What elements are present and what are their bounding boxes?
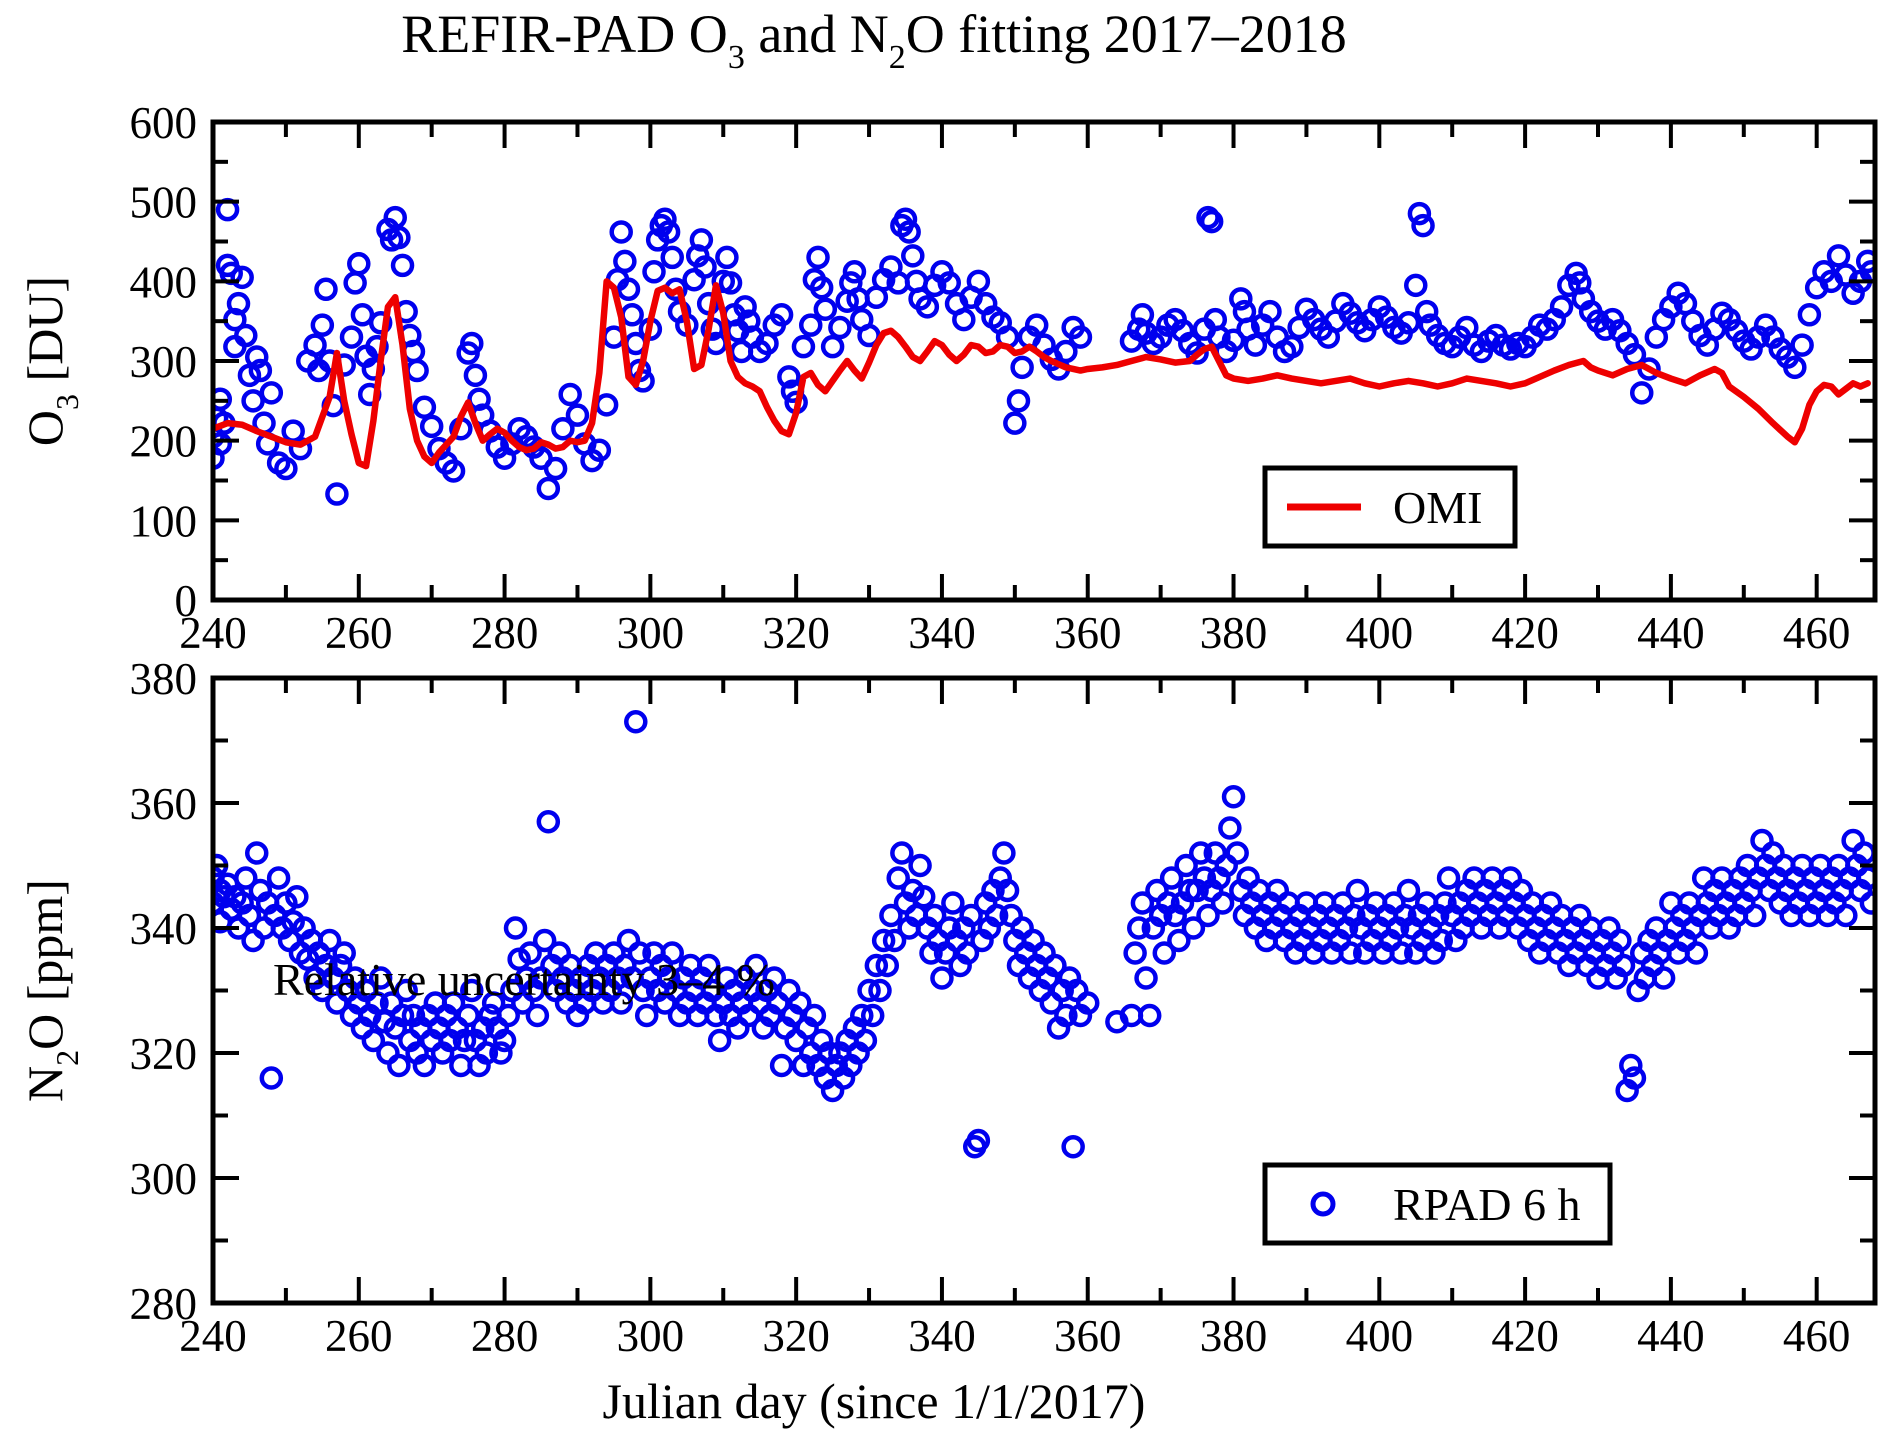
x-tick-label: 460 bbox=[1783, 608, 1851, 658]
x-tick-label: 260 bbox=[325, 608, 393, 658]
y-tick-label: 360 bbox=[130, 779, 198, 829]
y-tick-label: 300 bbox=[130, 1154, 198, 1204]
x-axis-label: Julian day (since 1/1/2017) bbox=[603, 1373, 1146, 1429]
x-tick-label: 340 bbox=[908, 1311, 976, 1361]
y-tick-label: 380 bbox=[130, 654, 198, 704]
y-tick-label: 100 bbox=[130, 496, 198, 546]
y-tick-label: 320 bbox=[130, 1029, 198, 1079]
x-tick-label: 360 bbox=[1054, 1311, 1122, 1361]
figure-background bbox=[0, 0, 1899, 1444]
y-zero-label: 0 bbox=[175, 576, 198, 626]
legend: RPAD 6 h bbox=[1265, 1165, 1610, 1243]
x-tick-label: 400 bbox=[1346, 1311, 1414, 1361]
x-tick-label: 320 bbox=[762, 608, 830, 658]
x-tick-label: 460 bbox=[1783, 1311, 1851, 1361]
x-tick-label: 380 bbox=[1200, 608, 1268, 658]
figure-canvas: REFIR-PAD O3 and N2O fitting 2017–2018 2… bbox=[0, 0, 1899, 1444]
x-tick-label: 360 bbox=[1054, 608, 1122, 658]
y-tick-label: 600 bbox=[130, 98, 198, 148]
y-tick-label: 300 bbox=[130, 337, 198, 387]
x-tick-label: 300 bbox=[617, 608, 685, 658]
x-tick-label: 440 bbox=[1637, 608, 1705, 658]
y-tick-label: 500 bbox=[130, 178, 198, 228]
uncertainty-annotation: Relative uncertainty 3–4 % bbox=[273, 954, 775, 1005]
x-tick-label: 260 bbox=[325, 1311, 393, 1361]
x-tick-label: 380 bbox=[1200, 1311, 1268, 1361]
y-tick-label: 200 bbox=[130, 417, 198, 467]
x-tick-label: 280 bbox=[471, 608, 539, 658]
legend-label: RPAD 6 h bbox=[1393, 1179, 1580, 1230]
legend: OMI bbox=[1265, 468, 1515, 546]
x-tick-label: 440 bbox=[1637, 1311, 1705, 1361]
chart-figure: REFIR-PAD O3 and N2O fitting 2017–2018 2… bbox=[0, 0, 1899, 1444]
y-tick-label: 400 bbox=[130, 257, 198, 307]
legend-label: OMI bbox=[1393, 482, 1482, 533]
y-tick-label: 340 bbox=[130, 904, 198, 954]
y-tick-label: 280 bbox=[130, 1279, 198, 1329]
x-tick-label: 420 bbox=[1491, 608, 1559, 658]
x-tick-label: 280 bbox=[471, 1311, 539, 1361]
x-tick-label: 400 bbox=[1346, 608, 1414, 658]
x-tick-label: 300 bbox=[617, 1311, 685, 1361]
x-tick-label: 420 bbox=[1491, 1311, 1559, 1361]
x-tick-label: 340 bbox=[908, 608, 976, 658]
x-tick-label: 320 bbox=[762, 1311, 830, 1361]
